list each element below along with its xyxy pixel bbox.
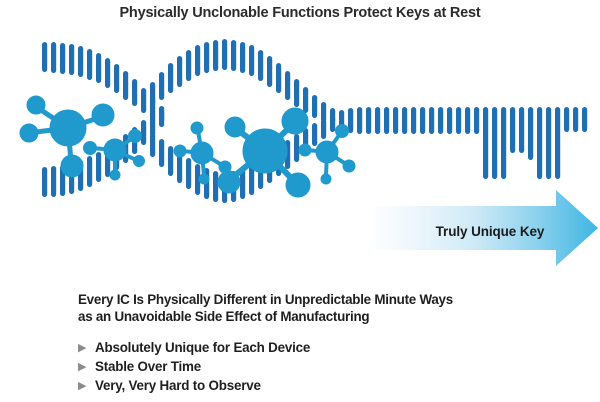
- triangle-bullet-icon: ▶: [78, 358, 95, 376]
- page-title: Physically Unclonable Functions Protect …: [0, 5, 600, 21]
- triangle-bullet-icon: ▶: [78, 377, 95, 395]
- dna-key-svg: [0, 26, 600, 276]
- bullet-list: ▶ Absolutely Unique for Each Device ▶ St…: [78, 339, 548, 395]
- subhead: Every IC Is Physically Different in Unpr…: [78, 291, 548, 325]
- arrow-shape: [372, 190, 598, 266]
- list-item: ▶ Absolutely Unique for Each Device: [78, 339, 548, 357]
- subhead-line-1: Every IC Is Physically Different in Unpr…: [78, 292, 453, 307]
- infographic-page: Physically Unclonable Functions Protect …: [0, 0, 600, 402]
- list-item-label: Stable Over Time: [95, 358, 201, 376]
- subhead-line-2: as an Unavoidable Side Effect of Manufac…: [78, 309, 369, 324]
- dna-key-graphic: [0, 26, 600, 276]
- list-item: ▶ Stable Over Time: [78, 358, 548, 376]
- key-teeth-bars: [474, 107, 587, 179]
- list-item-label: Very, Very Hard to Observe: [95, 377, 261, 395]
- molecule-cluster-small-left: [84, 130, 145, 181]
- list-item: ▶ Very, Very Hard to Observe: [78, 377, 548, 395]
- triangle-bullet-icon: ▶: [78, 339, 95, 357]
- list-item-label: Absolutely Unique for Each Device: [95, 339, 310, 357]
- key-shaft-bars: [357, 107, 470, 134]
- truly-unique-key-arrow: [372, 190, 598, 266]
- body-copy: Every IC Is Physically Different in Unpr…: [78, 291, 548, 396]
